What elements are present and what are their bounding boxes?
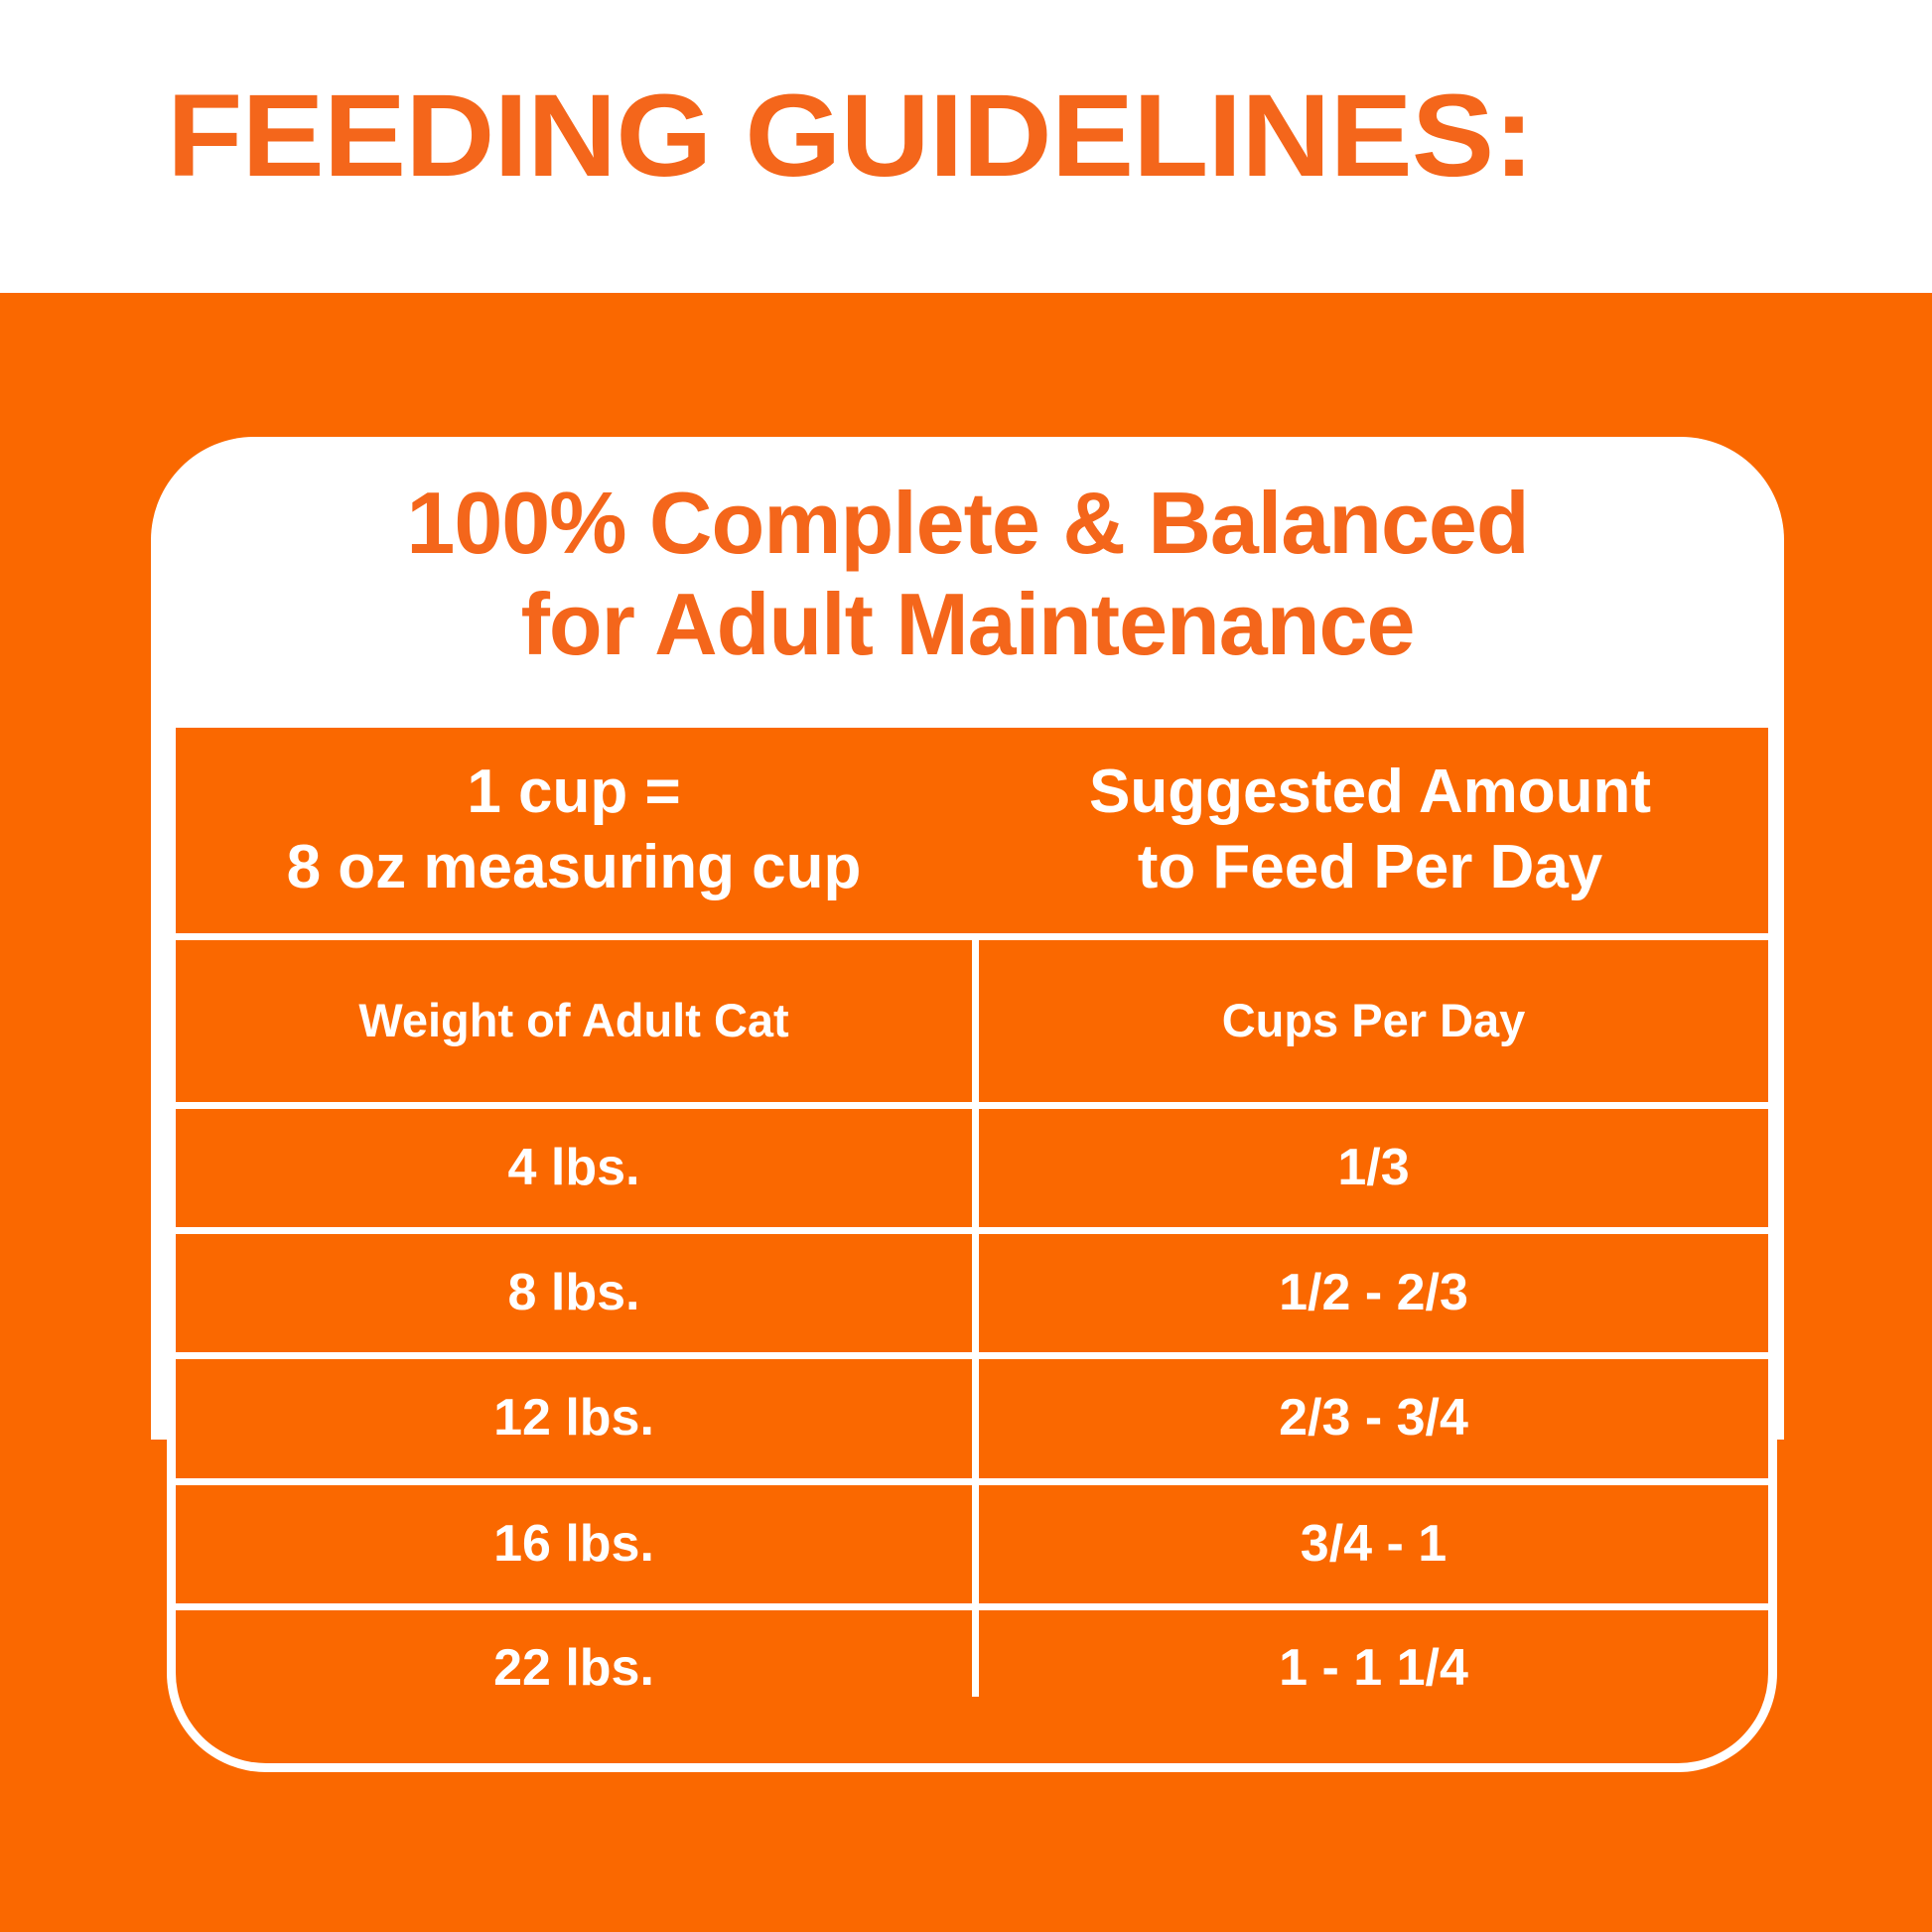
cell-weight: 12 lbs.: [176, 1359, 972, 1477]
header-banner: FEEDING GUIDELINES:: [0, 0, 1932, 293]
table-row: 16 lbs. 3/4 - 1: [176, 1478, 1768, 1603]
table-column-header-row: Weight of Adult Cat Cups Per Day: [176, 933, 1768, 1102]
cell-cups: 1/3: [972, 1109, 1768, 1227]
cell-cups: 2/3 - 3/4: [972, 1359, 1768, 1477]
column-header-weight: Weight of Adult Cat: [176, 940, 972, 1102]
cell-weight: 16 lbs.: [176, 1485, 972, 1603]
merged-header-left-line-2: 8 oz measuring cup: [287, 833, 862, 902]
card-heading-line-1: 100% Complete & Balanced: [406, 474, 1528, 572]
column-header-cups: Cups Per Day: [972, 940, 1768, 1102]
table-row: 22 lbs. 1 - 1 1/4: [176, 1603, 1768, 1763]
merged-header-cell-left: 1 cup = 8 oz measuring cup: [176, 728, 972, 933]
merged-header-right-line-1: Suggested Amount: [1089, 758, 1651, 827]
merged-header-right-line-2: to Feed Per Day: [1089, 833, 1651, 902]
table-merged-header-row: 1 cup = 8 oz measuring cup Suggested Amo…: [176, 728, 1768, 933]
table-row: 8 lbs. 1/2 - 2/3: [176, 1227, 1768, 1352]
table-row: 4 lbs. 1/3: [176, 1102, 1768, 1227]
page-title: FEEDING GUIDELINES:: [167, 77, 1534, 195]
cell-cups: 3/4 - 1: [972, 1485, 1768, 1603]
cell-weight: 22 lbs.: [176, 1610, 972, 1697]
cell-cups: 1/2 - 2/3: [972, 1234, 1768, 1352]
cell-weight: 8 lbs.: [176, 1234, 972, 1352]
feeding-guidelines-table: 1 cup = 8 oz measuring cup Suggested Amo…: [167, 728, 1777, 1772]
table-row: 12 lbs. 2/3 - 3/4: [176, 1352, 1768, 1477]
merged-header-left-line-1: 1 cup =: [287, 758, 862, 827]
card-heading-line-2: for Adult Maintenance: [151, 581, 1784, 668]
card-heading: 100% Complete & Balanced for Adult Maint…: [151, 480, 1784, 668]
merged-header-cell-right: Suggested Amount to Feed Per Day: [972, 728, 1768, 933]
cell-cups: 1 - 1 1/4: [972, 1610, 1768, 1697]
cell-weight: 4 lbs.: [176, 1109, 972, 1227]
